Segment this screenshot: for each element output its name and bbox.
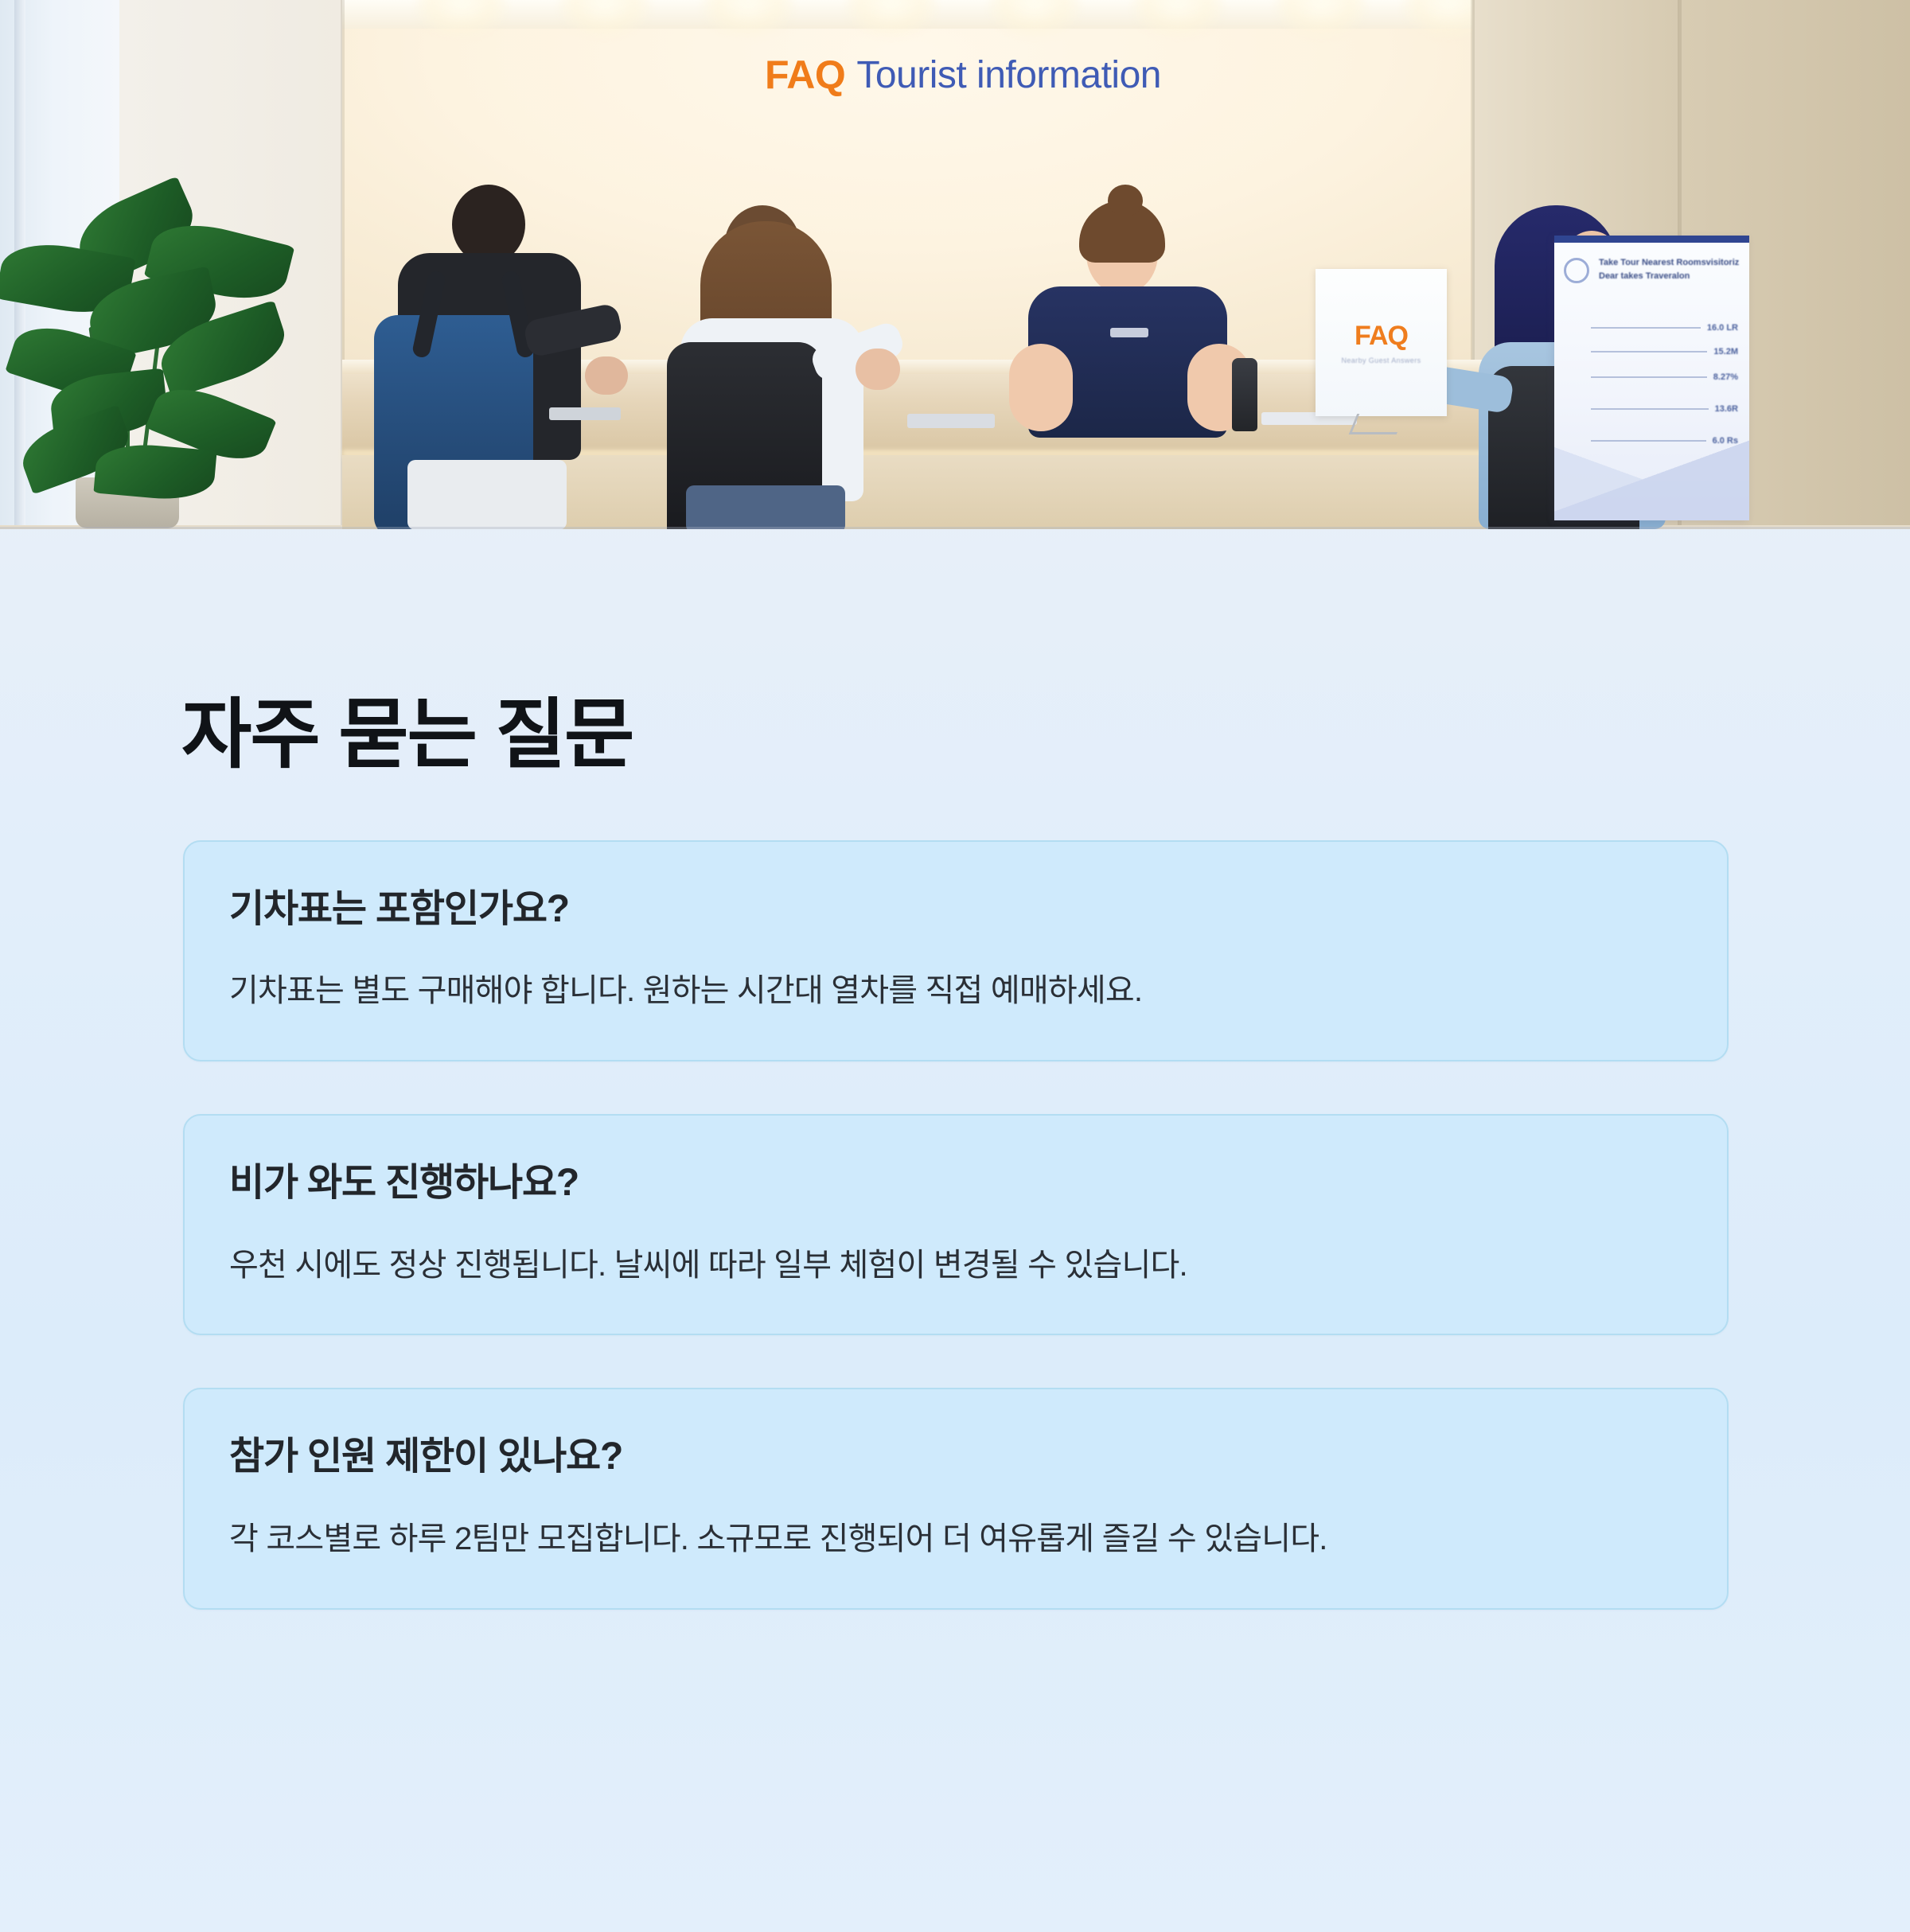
banner-stat-row: 16.0 LR xyxy=(1591,323,1738,333)
banner-title-text: Take Tour Nearest Roomsvisitoriz Dear ta… xyxy=(1599,256,1741,282)
hero-scene: FAQ Tourist information xyxy=(0,0,1910,529)
faq-question: 비가 와도 진행하나요? xyxy=(229,1160,1682,1206)
banner-rule xyxy=(1591,408,1709,410)
banner-mountain-graphic xyxy=(1554,425,1749,520)
desk-tablet xyxy=(549,407,621,420)
staff-arm-left xyxy=(1009,344,1073,431)
banner-stat-row: 15.2M xyxy=(1591,347,1738,356)
hero-bottom-divider xyxy=(0,527,1910,529)
banner-stat-value: 13.6R xyxy=(1715,404,1738,414)
faq-question: 참가 인원 제한이 있나요? xyxy=(229,1434,1682,1480)
person-1-legs xyxy=(407,460,567,529)
banner-stat-value: 16.0 LR xyxy=(1707,323,1738,333)
banner-rule xyxy=(1591,376,1707,378)
rollup-banner: Take Tour Nearest Roomsvisitoriz Dear ta… xyxy=(1554,236,1749,520)
desk-sign-stand xyxy=(1349,414,1405,434)
faq-item[interactable]: 비가 와도 진행하나요? 우천 시에도 정상 진행됩니다. 날씨에 따라 일부 … xyxy=(183,1114,1729,1335)
wall-sign-faq-text: FAQ xyxy=(765,52,845,98)
desk-sign-subtext: Nearby Guest Answers xyxy=(1341,356,1421,364)
wall-sign: FAQ Tourist information xyxy=(740,46,1186,103)
banner-stat-row: 13.6R xyxy=(1591,404,1738,414)
person-2-hand xyxy=(856,349,900,390)
faq-list: 기차표는 포함인가요? 기차표는 별도 구매해야 합니다. 원하는 시간대 열차… xyxy=(0,840,1910,1610)
desk-faq-sign: FAQ Nearby Guest Answers xyxy=(1316,269,1447,416)
hero-image: FAQ Tourist information xyxy=(0,0,1910,529)
banner-logo-icon xyxy=(1564,258,1589,283)
faq-answer: 각 코스별로 하루 2팀만 모집합니다. 소규모로 진행되어 더 여유롭게 즐길… xyxy=(229,1513,1682,1565)
banner-top-bar xyxy=(1554,236,1749,243)
staff-name-badge xyxy=(1110,328,1148,337)
faq-section: 자주 묻는 질문 기차표는 포함인가요? 기차표는 별도 구매해야 합니다. 원… xyxy=(0,692,1910,1610)
banner-rule xyxy=(1591,327,1701,329)
faq-item[interactable]: 기차표는 포함인가요? 기차표는 별도 구매해야 합니다. 원하는 시간대 열차… xyxy=(183,840,1729,1061)
banner-stat-row: 8.27% xyxy=(1591,372,1738,382)
banner-stat-value: 15.2M xyxy=(1713,347,1738,356)
person-2-legs xyxy=(686,485,845,529)
desk-brochure xyxy=(907,414,995,428)
faq-answer: 우천 시에도 정상 진행됩니다. 날씨에 따라 일부 체험이 변경될 수 있습니… xyxy=(229,1240,1682,1291)
desk-sign-faq-text: FAQ xyxy=(1355,321,1408,352)
wall-sign-subtitle: Tourist information xyxy=(856,53,1161,97)
person-1-head xyxy=(452,185,525,264)
faq-question: 기차표는 포함인가요? xyxy=(229,886,1682,933)
banner-rule xyxy=(1591,351,1707,353)
banner-stat-value: 8.27% xyxy=(1713,372,1738,382)
page-title: 자주 묻는 질문 xyxy=(181,692,1910,778)
faq-answer: 기차표는 별도 구매해야 합니다. 원하는 시간대 열차를 직접 예매하세요. xyxy=(229,965,1682,1017)
faq-item[interactable]: 참가 인원 제한이 있나요? 각 코스별로 하루 2팀만 모집합니다. 소규모로… xyxy=(183,1388,1729,1609)
desk-water-bottle xyxy=(1232,358,1257,431)
staff-hair-bun xyxy=(1108,185,1143,216)
person-1-hand xyxy=(585,356,628,395)
